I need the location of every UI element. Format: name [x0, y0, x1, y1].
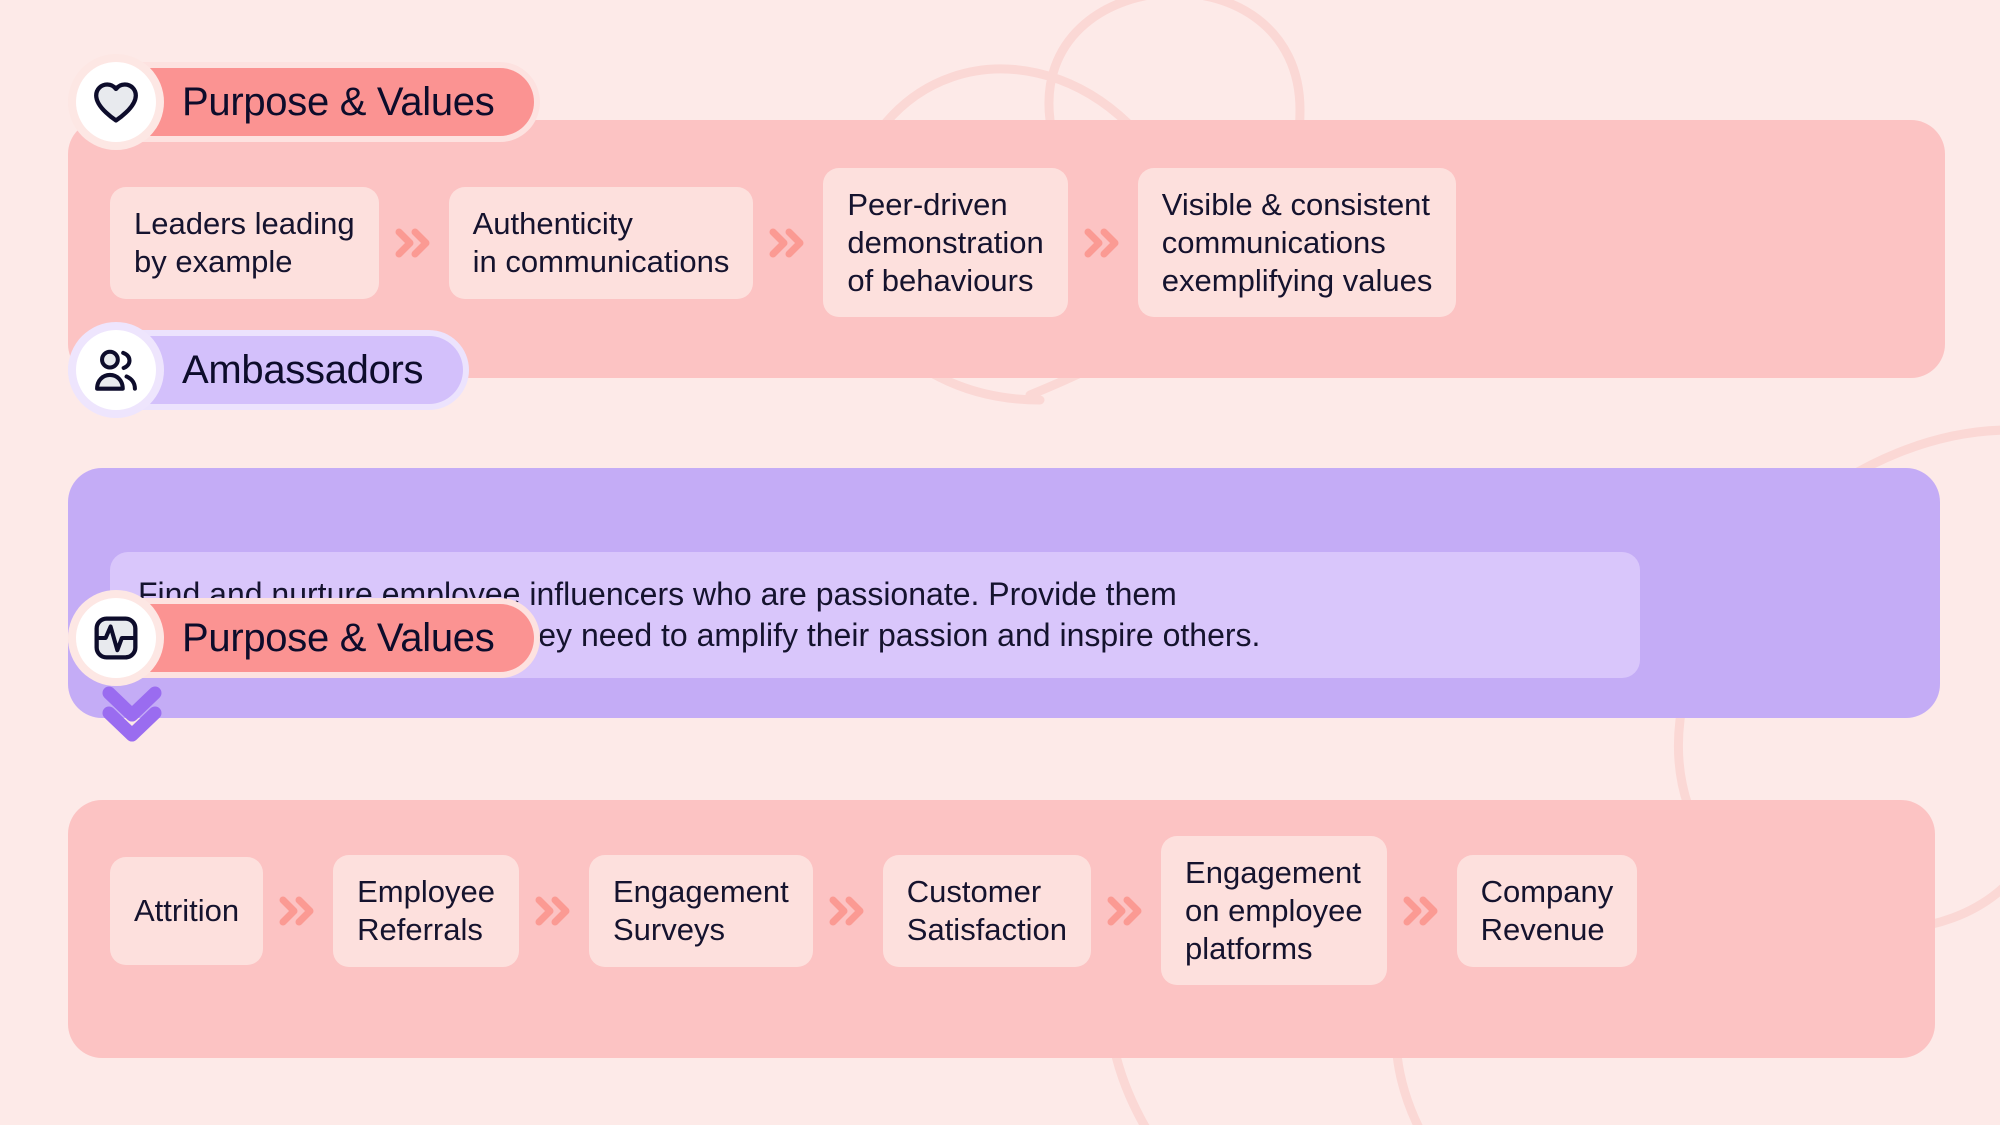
activity-pulse-icon: [89, 611, 143, 665]
flow-row-purpose-values: Leaders leading by example Authenticity …: [110, 168, 1456, 317]
chevron-right-icon: [1401, 891, 1443, 931]
section-title: Ambassadors: [182, 350, 423, 390]
icon-badge-inner: [76, 598, 156, 678]
chevron-right-icon: [1105, 891, 1147, 931]
flow-card[interactable]: Attrition: [110, 857, 263, 965]
flow-card[interactable]: Company Revenue: [1457, 855, 1638, 967]
section-header-purpose-values[interactable]: Purpose & Values: [68, 62, 540, 142]
users-icon: [89, 343, 143, 397]
section-header-measurement[interactable]: Purpose & Values: [68, 598, 540, 678]
icon-badge: [68, 54, 164, 150]
flow-card[interactable]: Engagement on employee platforms: [1161, 836, 1387, 985]
icon-badge-inner: [76, 62, 156, 142]
flow-card[interactable]: Employee Referrals: [333, 855, 519, 967]
heart-icon: [89, 75, 143, 129]
flow-row-measurement: Attrition Employee Referrals Engagement …: [110, 836, 1637, 985]
chevron-right-icon: [827, 891, 869, 931]
section-header-ambassadors[interactable]: Ambassadors: [68, 330, 469, 410]
chevron-right-icon: [767, 223, 809, 263]
connector-ambassadors-to-measurement: [97, 683, 167, 750]
flow-card[interactable]: Peer-driven demonstration of behaviours: [823, 168, 1067, 317]
double-chevron-down-icon: [97, 683, 167, 745]
flow-card[interactable]: Authenticity in communications: [449, 187, 754, 299]
chevron-right-icon: [533, 891, 575, 931]
flow-card[interactable]: Customer Satisfaction: [883, 855, 1091, 967]
chevron-right-icon: [393, 223, 435, 263]
icon-badge: [68, 590, 164, 686]
icon-badge-inner: [76, 330, 156, 410]
section-title: Purpose & Values: [182, 618, 494, 658]
chevron-right-icon: [1082, 223, 1124, 263]
infographic-canvas: Purpose & Values Leaders leading by exam…: [0, 0, 2000, 1125]
flow-card[interactable]: Engagement Surveys: [589, 855, 813, 967]
flow-card[interactable]: Visible & consistent communications exem…: [1138, 168, 1457, 317]
section-title: Purpose & Values: [182, 82, 494, 122]
flow-card[interactable]: Leaders leading by example: [110, 187, 379, 299]
chevron-right-icon: [277, 891, 319, 931]
icon-badge: [68, 322, 164, 418]
